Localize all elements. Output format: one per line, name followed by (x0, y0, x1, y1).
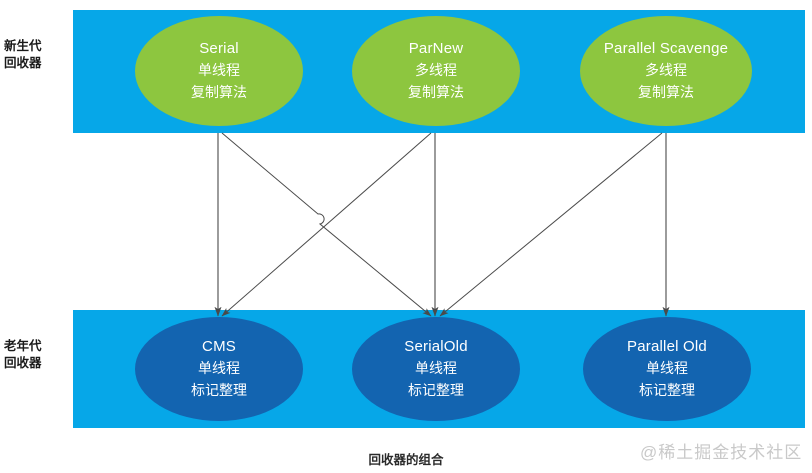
collector-parallel-old[interactable]: Parallel Old 单线程 标记整理 (583, 317, 751, 421)
connector-serial-to-serialold (222, 133, 431, 316)
collector-serialold-name: SerialOld (404, 337, 468, 357)
collector-serialold[interactable]: SerialOld 单线程 标记整理 (352, 317, 520, 421)
watermark: @稀土掘金技术社区 (640, 438, 802, 463)
collector-parnew-name: ParNew (409, 39, 464, 59)
collector-serialold-algorithm: 标记整理 (408, 379, 464, 401)
collector-cms-threading: 单线程 (198, 357, 240, 379)
collector-parallel-old-threading: 单线程 (646, 357, 688, 379)
collector-serialold-threading: 单线程 (415, 357, 457, 379)
collector-serial-algorithm: 复制算法 (191, 81, 247, 103)
collector-cms-name: CMS (202, 337, 236, 357)
collector-parallel-scavenge-threading: 多线程 (645, 59, 687, 81)
connector-parallelscavenge-to-serialold (440, 133, 662, 316)
old-generation-label: 老年代 回收器 (4, 338, 72, 372)
collector-serial-name: Serial (199, 39, 239, 59)
collector-serial[interactable]: Serial 单线程 复制算法 (135, 16, 303, 126)
collector-parnew-algorithm: 复制算法 (408, 81, 464, 103)
collector-parallel-scavenge-algorithm: 复制算法 (638, 81, 694, 103)
young-generation-label: 新生代 回收器 (4, 38, 72, 72)
young-generation-label-line1: 新生代 (4, 38, 72, 55)
collector-cms-algorithm: 标记整理 (191, 379, 247, 401)
collector-parallel-scavenge-name: Parallel Scavenge (604, 39, 728, 59)
collector-parnew[interactable]: ParNew 多线程 复制算法 (352, 16, 520, 126)
collector-cms[interactable]: CMS 单线程 标记整理 (135, 317, 303, 421)
collector-parallel-scavenge[interactable]: Parallel Scavenge 多线程 复制算法 (580, 16, 752, 126)
diagram-canvas: 新生代 回收器 老年代 回收器 Serial 单线程 复制算法 ParNew (0, 0, 812, 473)
connector-parnew-to-cms (222, 133, 431, 316)
old-generation-label-line2: 回收器 (4, 355, 72, 372)
old-generation-label-line1: 老年代 (4, 338, 72, 355)
young-generation-label-line2: 回收器 (4, 55, 72, 72)
collector-serial-threading: 单线程 (198, 59, 240, 81)
collector-parallel-old-algorithm: 标记整理 (639, 379, 695, 401)
collector-parallel-old-name: Parallel Old (627, 337, 707, 357)
collector-parnew-threading: 多线程 (415, 59, 457, 81)
